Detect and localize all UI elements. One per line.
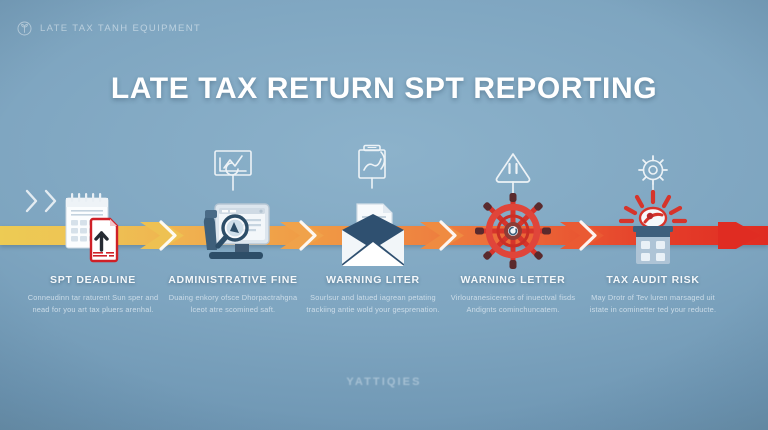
chart-billboard-outline-icon <box>211 146 255 196</box>
step-3-description: Sourlsur and latued iagrean petating tra… <box>306 292 440 315</box>
red-ship-wheel-icon <box>468 190 558 272</box>
step-4-label: WARNING LETTER <box>438 274 588 286</box>
envelope-letter-icon <box>330 194 416 276</box>
step-2-label: ADMINISTRATIVE FINE <box>158 274 308 286</box>
footer-text: YATTIQIES <box>0 376 768 388</box>
step-4-description: Virlouranesicerens of inuectval fisds An… <box>446 292 580 315</box>
step-3-label: WARNING LITER <box>298 274 448 286</box>
document-sign-outline-icon <box>351 142 395 192</box>
chevron-marker-4 <box>576 217 602 254</box>
chevron-marker-2 <box>296 217 322 254</box>
step-5-label: TAX AUDIT RISK <box>578 274 728 286</box>
step-2-description: Duaing enkory ofsce Dhorpactrahgna lceot… <box>166 292 300 315</box>
monitor-magnifier-icon <box>187 192 279 274</box>
chevron-marker-3 <box>436 217 462 254</box>
alarm-siren-building-icon <box>609 188 697 270</box>
chevron-marker-1 <box>156 217 182 254</box>
step-1-label: SPT DEADLINE <box>18 274 168 286</box>
calendar-upload-document-icon <box>52 188 134 270</box>
brand-logo: LATE TAX TANH EQUIPMENT <box>16 20 201 37</box>
step-1-description: Conneudinn tar raturent Sun sper and nea… <box>26 292 160 315</box>
infographic-canvas: LATE TAX TANH EQUIPMENT LATE TAX RETURN … <box>0 0 768 430</box>
leaf-circle-logo-icon <box>16 20 33 37</box>
arrow-head-right-icon <box>718 214 760 257</box>
brand-text: LATE TAX TANH EQUIPMENT <box>40 23 201 34</box>
page-title: LATE TAX RETURN SPT REPORTING <box>0 72 768 106</box>
step-5-description: May Drotr of Tev luren marsaged uit ista… <box>586 292 720 315</box>
